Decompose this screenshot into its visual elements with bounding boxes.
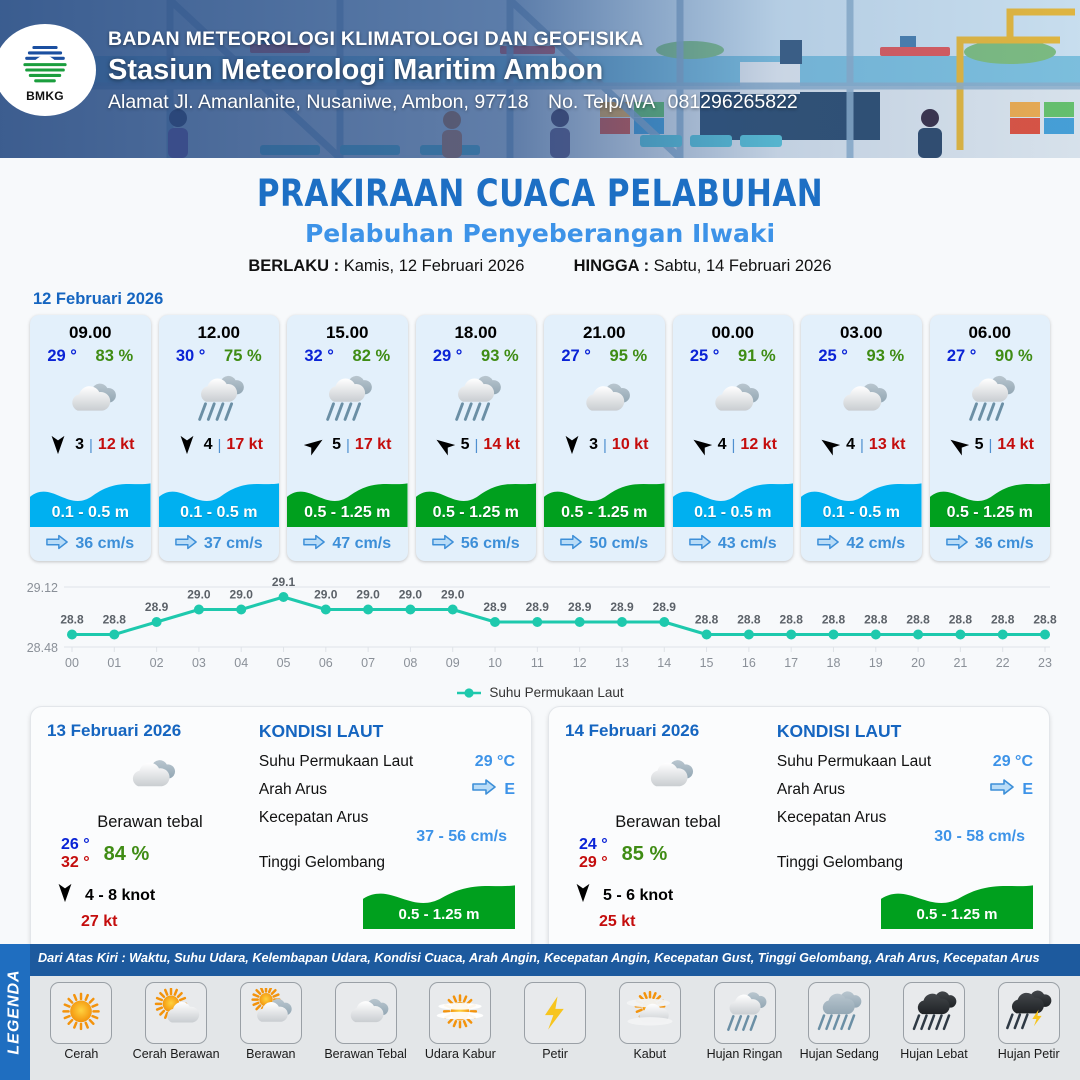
svg-text:28.8: 28.8 bbox=[737, 613, 761, 627]
wave-height-label-row: Tinggi Gelombang bbox=[777, 850, 1033, 875]
forecast-card: 03.00 25 ° 93 % 4 | 13 kt bbox=[801, 315, 922, 561]
wind-separator: | bbox=[860, 437, 864, 454]
wind-gust-value: 17 kt bbox=[226, 436, 262, 454]
forecast-temp-humidity: 29 ° 83 % bbox=[30, 343, 151, 366]
current-direction-label: Arah Arus bbox=[777, 781, 845, 799]
svg-text:28.8: 28.8 bbox=[991, 613, 1015, 627]
wave-height-value: 0.1 - 0.5 m bbox=[30, 504, 151, 522]
svg-text:29.12: 29.12 bbox=[27, 581, 58, 595]
sst-label: Suhu Permukaan Laut bbox=[777, 753, 931, 771]
wave-height-band: 0.5 - 1.25 m bbox=[544, 475, 665, 527]
wind-direction-arrow-icon bbox=[303, 434, 327, 456]
daily-date: 13 Februari 2026 bbox=[47, 721, 253, 741]
current-speed-row: 37 cm/s bbox=[159, 527, 280, 561]
wave-height-band: 0.5 - 1.25 m bbox=[930, 475, 1051, 527]
wind-separator: | bbox=[89, 437, 93, 454]
current-speed-label: Kecepatan Arus bbox=[259, 809, 368, 827]
sea-condition-title: KONDISI LAUT bbox=[259, 721, 515, 742]
svg-text:03: 03 bbox=[192, 656, 206, 670]
svg-text:28.8: 28.8 bbox=[695, 613, 719, 627]
wind-direction-value: 4 bbox=[718, 436, 727, 454]
daily-wind-row: 4 - 8 knot bbox=[47, 882, 253, 909]
svg-text:28.8: 28.8 bbox=[1033, 613, 1057, 627]
svg-text:28.8: 28.8 bbox=[103, 613, 127, 627]
forecast-humidity: 75 % bbox=[224, 347, 262, 366]
wind-direction-arrow-icon bbox=[689, 434, 713, 456]
svg-text:28.8: 28.8 bbox=[949, 613, 973, 627]
current-speed-label-row: Kecepatan Arus bbox=[777, 805, 1033, 830]
forecast-temp-humidity: 25 ° 93 % bbox=[801, 343, 922, 366]
legenda-item-label: Udara Kabur bbox=[425, 1047, 496, 1061]
wave-height-value: 0.1 - 0.5 m bbox=[159, 504, 280, 522]
sea-condition-title: KONDISI LAUT bbox=[777, 721, 1033, 742]
weather-berawan-tebal-icon bbox=[30, 368, 151, 432]
forecast-time: 06.00 bbox=[930, 315, 1051, 343]
current-direction-value: E bbox=[1022, 781, 1033, 799]
forecast-time: 00.00 bbox=[673, 315, 794, 343]
current-direction-arrow-icon bbox=[817, 534, 839, 555]
wave-height-value: 0.5 - 1.25 m bbox=[930, 504, 1051, 522]
current-speed-row: 36 cm/s bbox=[30, 527, 151, 561]
weather-hujan-sedang-icon bbox=[808, 982, 870, 1044]
svg-text:29.0: 29.0 bbox=[399, 588, 423, 602]
weather-cerah-berawan-icon bbox=[145, 982, 207, 1044]
header-text-block: BADAN METEOROLOGI KLIMATOLOGI DAN GEOFIS… bbox=[108, 28, 798, 114]
daily-forecast-panel: 13 Februari 2026 Berawan tebal 26 ° 32 ° bbox=[30, 706, 532, 954]
wave-height-label: Tinggi Gelombang bbox=[777, 854, 903, 872]
agency-name: BADAN METEOROLOGI KLIMATOLOGI DAN GEOFIS… bbox=[108, 28, 798, 51]
weather-berawan-icon bbox=[240, 982, 302, 1044]
daily-panel-left: 14 Februari 2026 Berawan tebal 24 ° 29 ° bbox=[565, 721, 771, 943]
forecast-temperature: 25 ° bbox=[690, 347, 720, 366]
svg-text:28.8: 28.8 bbox=[60, 613, 84, 627]
svg-text:28.9: 28.9 bbox=[568, 600, 592, 614]
wind-direction-arrow-icon bbox=[46, 434, 70, 456]
daily-panel-left: 13 Februari 2026 Berawan tebal 26 ° 32 ° bbox=[47, 721, 253, 943]
weather-hujan-petir-icon bbox=[998, 982, 1060, 1044]
svg-text:28.9: 28.9 bbox=[526, 600, 550, 614]
weather-berawan-tebal-icon bbox=[673, 368, 794, 432]
legenda-item: Hujan Sedang bbox=[792, 982, 887, 1080]
legenda-item-label: Hujan Lebat bbox=[900, 1047, 967, 1061]
svg-text:13: 13 bbox=[615, 656, 629, 670]
daily-condition: Berawan tebal bbox=[47, 813, 253, 832]
forecast-temp-humidity: 27 ° 95 % bbox=[544, 343, 665, 366]
forecast-wind: 5 | 17 kt bbox=[287, 432, 408, 460]
weather-hujan-ringan-icon bbox=[930, 368, 1051, 432]
station-contact: Alamat Jl. Amanlanite, Nusaniwe, Ambon, … bbox=[108, 91, 798, 114]
svg-text:11: 11 bbox=[531, 656, 544, 670]
current-direction-row: Arah Arus E bbox=[259, 777, 515, 802]
svg-text:07: 07 bbox=[361, 656, 375, 670]
svg-text:28.9: 28.9 bbox=[145, 600, 169, 614]
forecast-temp-humidity: 25 ° 91 % bbox=[673, 343, 794, 366]
wind-direction-value: 5 bbox=[975, 436, 984, 454]
legenda-item: Petir bbox=[508, 982, 603, 1080]
sst-label: Suhu Permukaan Laut bbox=[259, 753, 413, 771]
weather-hujan-ringan-icon bbox=[714, 982, 776, 1044]
title-block: PRAKIRAAN CUACA PELABUHAN Pelabuhan Peny… bbox=[0, 158, 1080, 276]
wind-direction-arrow-icon bbox=[560, 434, 584, 456]
current-speed-value: 50 cm/s bbox=[589, 535, 648, 553]
wind-direction-value: 3 bbox=[75, 436, 84, 454]
daily-wind-speed: 5 - 6 knot bbox=[603, 887, 673, 905]
legenda-item: Udara Kabur bbox=[413, 982, 508, 1080]
weather-hujan-lebat-icon bbox=[903, 982, 965, 1044]
wind-separator: | bbox=[732, 437, 736, 454]
valid-to-value: Sabtu, 14 Februari 2026 bbox=[654, 257, 832, 275]
legenda-item: Hujan Ringan bbox=[697, 982, 792, 1080]
forecast-humidity: 93 % bbox=[481, 347, 519, 366]
forecast-wind: 4 | 17 kt bbox=[159, 432, 280, 460]
svg-text:17: 17 bbox=[784, 656, 798, 670]
svg-text:29.0: 29.0 bbox=[441, 588, 465, 602]
current-speed-row: 56 cm/s bbox=[416, 527, 537, 561]
wave-height-band: 0.1 - 0.5 m bbox=[159, 475, 280, 527]
forecast-card: 15.00 32 ° 82 % 5 | 17 kt bbox=[287, 315, 408, 561]
svg-text:21: 21 bbox=[953, 656, 967, 670]
daily-panel-right: KONDISI LAUT Suhu Permukaan Laut 29 °C A… bbox=[771, 721, 1033, 943]
wave-height-value: 0.5 - 1.25 m bbox=[287, 504, 408, 522]
weather-berawan-tebal-icon bbox=[335, 982, 397, 1044]
wave-height-value: 0.5 - 1.25 m bbox=[363, 906, 515, 923]
forecast-time: 09.00 bbox=[30, 315, 151, 343]
forecast-cards-row: 09.00 29 ° 83 % 3 | 12 kt bbox=[0, 315, 1080, 561]
wind-separator: | bbox=[475, 437, 479, 454]
wave-height-label-row: Tinggi Gelombang bbox=[259, 850, 515, 875]
wind-gust-value: 12 kt bbox=[98, 436, 134, 454]
wind-separator: | bbox=[218, 437, 222, 454]
forecast-humidity: 91 % bbox=[738, 347, 776, 366]
bmkg-logo-icon bbox=[18, 37, 72, 91]
daily-temp-min: 26 ° bbox=[61, 836, 90, 854]
wind-gust-value: 14 kt bbox=[997, 436, 1033, 454]
svg-text:14: 14 bbox=[657, 656, 671, 670]
wind-direction-arrow-icon bbox=[175, 434, 199, 456]
forecast-temperature: 27 ° bbox=[561, 347, 591, 366]
forecast-temperature: 29 ° bbox=[47, 347, 77, 366]
current-speed-row: 43 cm/s bbox=[673, 527, 794, 561]
wind-direction-value: 3 bbox=[589, 436, 598, 454]
forecast-temp-humidity: 32 ° 82 % bbox=[287, 343, 408, 366]
forecast-temp-humidity: 27 ° 90 % bbox=[930, 343, 1051, 366]
wave-height-value: 0.5 - 1.25 m bbox=[544, 504, 665, 522]
current-direction-arrow-icon bbox=[432, 534, 454, 555]
forecast-temperature: 29 ° bbox=[433, 347, 463, 366]
current-direction-arrow-icon bbox=[946, 534, 968, 555]
current-direction-arrow-icon bbox=[175, 534, 197, 555]
wind-gust-value: 12 kt bbox=[740, 436, 776, 454]
legenda-item-label: Cerah bbox=[64, 1047, 98, 1061]
svg-text:28.8: 28.8 bbox=[864, 613, 888, 627]
current-speed-value: 36 cm/s bbox=[75, 535, 134, 553]
legenda-item: Berawan Tebal bbox=[318, 982, 413, 1080]
legenda-item: Berawan bbox=[223, 982, 318, 1080]
legenda-item-label: Berawan Tebal bbox=[324, 1047, 406, 1061]
current-speed-row: 42 cm/s bbox=[801, 527, 922, 561]
forecast-time: 18.00 bbox=[416, 315, 537, 343]
legenda-item-label: Hujan Petir bbox=[998, 1047, 1060, 1061]
station-name: Stasiun Meteorologi Maritim Ambon bbox=[108, 54, 798, 87]
sst-row: Suhu Permukaan Laut 29 °C bbox=[777, 749, 1033, 774]
daily-gust: 25 kt bbox=[599, 913, 771, 931]
current-direction-arrow-icon bbox=[990, 778, 1014, 801]
wave-height-badge: 0.5 - 1.25 m bbox=[363, 877, 515, 929]
current-speed-row: 47 cm/s bbox=[287, 527, 408, 561]
daily-humidity: 85 % bbox=[622, 843, 668, 866]
wind-gust-value: 10 kt bbox=[612, 436, 648, 454]
svg-text:19: 19 bbox=[869, 656, 883, 670]
legenda-item: Cerah bbox=[34, 982, 129, 1080]
wave-height-band: 0.1 - 0.5 m bbox=[801, 475, 922, 527]
current-speed-value: 36 cm/s bbox=[975, 535, 1034, 553]
sst-chart: 29.1228.48000102030405060708091011121314… bbox=[0, 571, 1080, 689]
legenda-item-label: Hujan Sedang bbox=[800, 1047, 879, 1061]
forecast-humidity: 83 % bbox=[96, 347, 134, 366]
wave-height-band: 0.5 - 1.25 m bbox=[416, 475, 537, 527]
validity-range: BERLAKU : Kamis, 12 Februari 2026 HINGGA… bbox=[0, 257, 1080, 276]
legenda-note: Dari Atas Kiri : Waktu, Suhu Udara, Kele… bbox=[38, 951, 1074, 965]
current-speed-value: 37 - 56 cm/s bbox=[259, 828, 507, 846]
bmkg-logo-text: BMKG bbox=[26, 89, 64, 103]
current-speed-value: 47 cm/s bbox=[332, 535, 391, 553]
weather-berawan-tebal-icon bbox=[801, 368, 922, 432]
svg-text:08: 08 bbox=[403, 656, 417, 670]
wind-direction-value: 4 bbox=[846, 436, 855, 454]
current-direction-arrow-icon bbox=[560, 534, 582, 555]
weather-hujan-ringan-icon bbox=[287, 368, 408, 432]
forecast-card: 00.00 25 ° 91 % 4 | 12 kt bbox=[673, 315, 794, 561]
svg-text:28.9: 28.9 bbox=[653, 600, 677, 614]
legenda-tab: LEGENDA bbox=[0, 944, 30, 1080]
forecast-card: 18.00 29 ° 93 % 5 | 14 kt bbox=[416, 315, 537, 561]
legenda-item: Cerah Berawan bbox=[129, 982, 224, 1080]
svg-text:29.0: 29.0 bbox=[187, 588, 211, 602]
wind-direction-arrow-icon bbox=[571, 882, 595, 909]
legenda-tab-label: LEGENDA bbox=[6, 969, 24, 1054]
svg-text:28.48: 28.48 bbox=[27, 641, 58, 655]
forecast-humidity: 90 % bbox=[995, 347, 1033, 366]
daily-temp-max: 29 ° bbox=[579, 854, 608, 872]
current-speed-value: 56 cm/s bbox=[461, 535, 520, 553]
current-direction-arrow-icon bbox=[689, 534, 711, 555]
wave-height-band: 0.1 - 0.5 m bbox=[30, 475, 151, 527]
wind-direction-arrow-icon bbox=[432, 434, 456, 456]
current-direction-arrow-icon bbox=[303, 534, 325, 555]
svg-text:29.0: 29.0 bbox=[314, 588, 338, 602]
wave-height-band: 0.1 - 0.5 m bbox=[673, 475, 794, 527]
forecast-time: 12.00 bbox=[159, 315, 280, 343]
weather-cerah-icon bbox=[50, 982, 112, 1044]
weather-udara-kabur-icon bbox=[429, 982, 491, 1044]
wave-height-value: 0.5 - 1.25 m bbox=[416, 504, 537, 522]
forecast-time: 03.00 bbox=[801, 315, 922, 343]
current-speed-row: 36 cm/s bbox=[930, 527, 1051, 561]
wind-gust-value: 13 kt bbox=[869, 436, 905, 454]
forecast-time: 15.00 bbox=[287, 315, 408, 343]
wind-gust-value: 14 kt bbox=[483, 436, 519, 454]
forecast-wind: 3 | 10 kt bbox=[544, 432, 665, 460]
svg-text:29.0: 29.0 bbox=[356, 588, 380, 602]
current-direction-row: Arah Arus E bbox=[777, 777, 1033, 802]
current-direction-label: Arah Arus bbox=[259, 781, 327, 799]
wave-height-badge: 0.5 - 1.25 m bbox=[881, 877, 1033, 929]
svg-text:05: 05 bbox=[277, 656, 291, 670]
current-speed-row: 50 cm/s bbox=[544, 527, 665, 561]
svg-text:20: 20 bbox=[911, 656, 925, 670]
daily-panels-row: 13 Februari 2026 Berawan tebal 26 ° 32 ° bbox=[0, 700, 1080, 954]
station-address: Alamat Jl. Amanlanite, Nusaniwe, Ambon, … bbox=[108, 91, 529, 113]
svg-text:29.1: 29.1 bbox=[272, 575, 296, 589]
daily-forecast-panel: 14 Februari 2026 Berawan tebal 24 ° 29 ° bbox=[548, 706, 1050, 954]
forecast-time: 21.00 bbox=[544, 315, 665, 343]
current-speed-label-row: Kecepatan Arus bbox=[259, 805, 515, 830]
current-speed-value: 37 cm/s bbox=[204, 535, 263, 553]
wave-height-value: 0.5 - 1.25 m bbox=[881, 906, 1033, 923]
forecast-card: 09.00 29 ° 83 % 3 | 12 kt bbox=[30, 315, 151, 561]
daily-humidity: 84 % bbox=[104, 843, 150, 866]
legenda-item-label: Berawan bbox=[246, 1047, 295, 1061]
forecast-temperature: 27 ° bbox=[947, 347, 977, 366]
daily-condition: Berawan tebal bbox=[565, 813, 771, 832]
forecast-humidity: 93 % bbox=[867, 347, 905, 366]
svg-text:28.8: 28.8 bbox=[906, 613, 930, 627]
current-direction-value: E bbox=[504, 781, 515, 799]
forecast-wind: 4 | 13 kt bbox=[801, 432, 922, 460]
svg-text:28.8: 28.8 bbox=[822, 613, 846, 627]
svg-text:16: 16 bbox=[742, 656, 756, 670]
forecast-temp-humidity: 29 ° 93 % bbox=[416, 343, 537, 366]
svg-text:29.0: 29.0 bbox=[230, 588, 254, 602]
daily-temp-min: 24 ° bbox=[579, 836, 608, 854]
forecast-temp-humidity: 30 ° 75 % bbox=[159, 343, 280, 366]
wind-gust-value: 17 kt bbox=[355, 436, 391, 454]
daily-wind-row: 5 - 6 knot bbox=[565, 882, 771, 909]
forecast-wind: 4 | 12 kt bbox=[673, 432, 794, 460]
valid-from-label: BERLAKU : bbox=[248, 257, 339, 275]
legenda-item-label: Hujan Ringan bbox=[707, 1047, 783, 1061]
wave-height-value: 0.1 - 0.5 m bbox=[801, 504, 922, 522]
current-speed-value: 42 cm/s bbox=[846, 535, 905, 553]
forecast-temperature: 32 ° bbox=[304, 347, 334, 366]
forecast-wind: 5 | 14 kt bbox=[930, 432, 1051, 460]
svg-text:09: 09 bbox=[446, 656, 460, 670]
forecast-wind: 5 | 14 kt bbox=[416, 432, 537, 460]
wind-direction-arrow-icon bbox=[817, 434, 841, 456]
valid-to-label: HINGGA : bbox=[574, 257, 649, 275]
forecast-temperature: 30 ° bbox=[176, 347, 206, 366]
weather-berawan-tebal-icon bbox=[544, 368, 665, 432]
wind-separator: | bbox=[989, 437, 993, 454]
current-speed-value: 43 cm/s bbox=[718, 535, 777, 553]
current-speed-value: 30 - 58 cm/s bbox=[777, 828, 1025, 846]
wave-height-label: Tinggi Gelombang bbox=[259, 854, 385, 872]
daily-panel-right: KONDISI LAUT Suhu Permukaan Laut 29 °C A… bbox=[253, 721, 515, 943]
page-subtitle: Pelabuhan Penyeberangan Ilwaki bbox=[0, 219, 1080, 248]
svg-text:00: 00 bbox=[65, 656, 79, 670]
phone-number: 081296265822 bbox=[668, 91, 798, 113]
wave-height-band: 0.5 - 1.25 m bbox=[287, 475, 408, 527]
svg-text:22: 22 bbox=[996, 656, 1010, 670]
forecast-wind: 3 | 12 kt bbox=[30, 432, 151, 460]
sst-value: 29 °C bbox=[475, 753, 515, 771]
svg-text:06: 06 bbox=[319, 656, 333, 670]
wave-height-value: 0.1 - 0.5 m bbox=[673, 504, 794, 522]
wind-direction-arrow-icon bbox=[946, 434, 970, 456]
sst-value: 29 °C bbox=[993, 753, 1033, 771]
forecast-card: 06.00 27 ° 90 % 5 | 14 kt bbox=[930, 315, 1051, 561]
forecast-humidity: 95 % bbox=[610, 347, 648, 366]
weather-kabut-icon bbox=[619, 982, 681, 1044]
svg-text:28.8: 28.8 bbox=[780, 613, 804, 627]
legenda-item: Hujan Lebat bbox=[887, 982, 982, 1080]
forecast-date-label: 12 Februari 2026 bbox=[33, 290, 1080, 309]
wind-direction-value: 5 bbox=[461, 436, 470, 454]
svg-text:28.9: 28.9 bbox=[610, 600, 634, 614]
forecast-card: 21.00 27 ° 95 % 3 | 10 kt bbox=[544, 315, 665, 561]
phone-label: No. Telp/WA bbox=[548, 91, 654, 113]
svg-text:04: 04 bbox=[234, 656, 248, 670]
current-speed-label: Kecepatan Arus bbox=[777, 809, 886, 827]
weather-petir-icon bbox=[524, 982, 586, 1044]
wind-direction-value: 4 bbox=[204, 436, 213, 454]
daily-wind-speed: 4 - 8 knot bbox=[85, 887, 155, 905]
legenda-icons-strip: Cerah Cerah Berawan bbox=[30, 976, 1080, 1080]
weather-berawan-tebal-icon bbox=[47, 749, 253, 803]
svg-text:10: 10 bbox=[488, 656, 502, 670]
daily-temperature-group: 24 ° 29 ° 85 % bbox=[565, 836, 771, 872]
wind-separator: | bbox=[346, 437, 350, 454]
legenda-item-label: Cerah Berawan bbox=[133, 1047, 220, 1061]
legenda-item: Hujan Petir bbox=[981, 982, 1076, 1080]
legenda-item: Kabut bbox=[602, 982, 697, 1080]
wind-separator: | bbox=[603, 437, 607, 454]
valid-from-value: Kamis, 12 Februari 2026 bbox=[344, 257, 525, 275]
svg-text:02: 02 bbox=[150, 656, 164, 670]
forecast-humidity: 82 % bbox=[353, 347, 391, 366]
daily-date: 14 Februari 2026 bbox=[565, 721, 771, 741]
svg-text:23: 23 bbox=[1038, 656, 1052, 670]
forecast-temperature: 25 ° bbox=[818, 347, 848, 366]
wind-direction-value: 5 bbox=[332, 436, 341, 454]
weather-hujan-ringan-icon bbox=[416, 368, 537, 432]
legenda-section: LEGENDA Dari Atas Kiri : Waktu, Suhu Uda… bbox=[0, 944, 1080, 1080]
daily-gust: 27 kt bbox=[81, 913, 253, 931]
weather-hujan-ringan-icon bbox=[159, 368, 280, 432]
svg-text:15: 15 bbox=[700, 656, 714, 670]
weather-berawan-tebal-icon bbox=[565, 749, 771, 803]
svg-text:01: 01 bbox=[107, 656, 121, 670]
current-direction-arrow-icon bbox=[472, 778, 496, 801]
sst-chart-canvas: 29.1228.48000102030405060708091011121314… bbox=[0, 571, 1080, 683]
svg-text:18: 18 bbox=[827, 656, 841, 670]
svg-text:28.9: 28.9 bbox=[483, 600, 507, 614]
legenda-item-label: Petir bbox=[542, 1047, 568, 1061]
daily-temperature-group: 26 ° 32 ° 84 % bbox=[47, 836, 253, 872]
daily-temp-max: 32 ° bbox=[61, 854, 90, 872]
sst-row: Suhu Permukaan Laut 29 °C bbox=[259, 749, 515, 774]
page-title: PRAKIRAAN CUACA PELABUHAN bbox=[38, 172, 1042, 215]
page-header: BMKG BADAN METEOROLOGI KLIMATOLOGI DAN G… bbox=[0, 0, 1080, 158]
svg-text:12: 12 bbox=[573, 656, 587, 670]
current-direction-arrow-icon bbox=[46, 534, 68, 555]
legenda-item-label: Kabut bbox=[633, 1047, 666, 1061]
forecast-card: 12.00 30 ° 75 % 4 | 17 kt bbox=[159, 315, 280, 561]
wind-direction-arrow-icon bbox=[53, 882, 77, 909]
